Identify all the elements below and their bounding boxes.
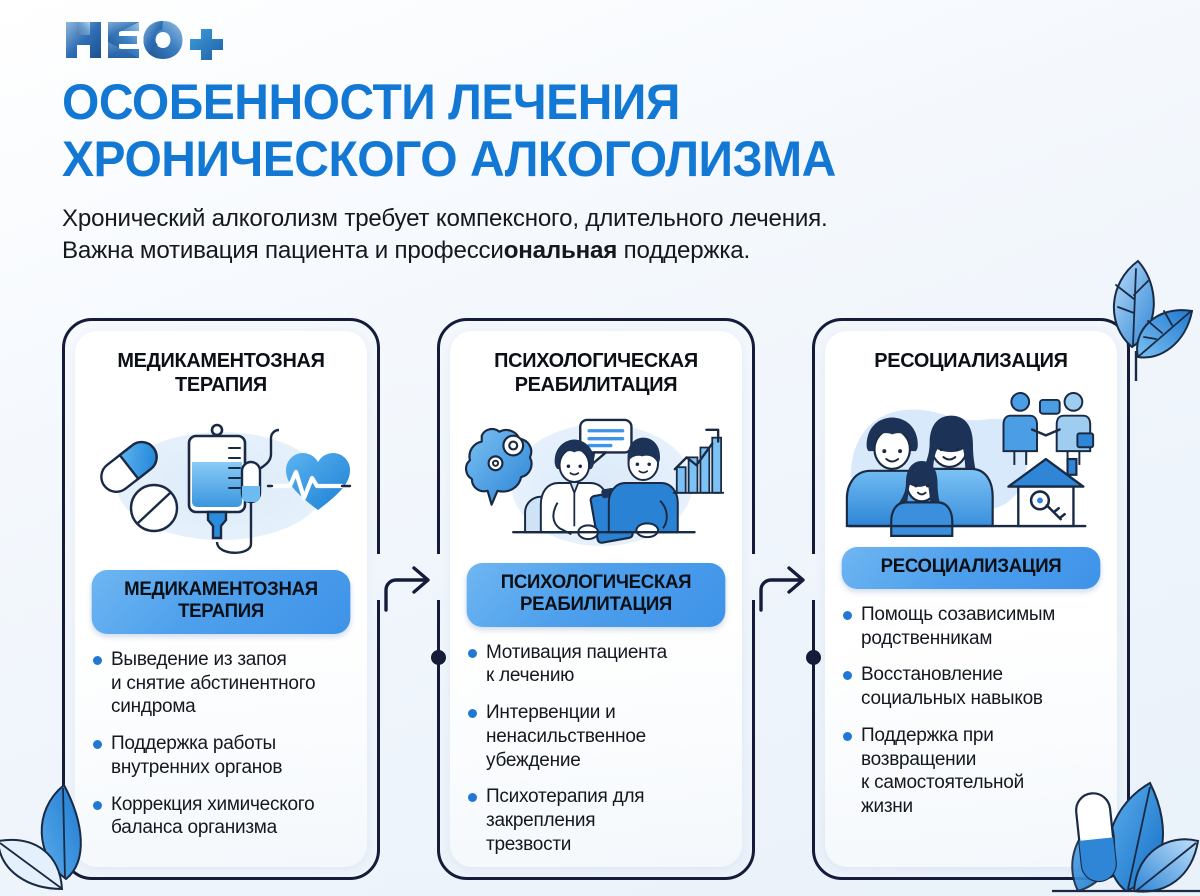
- list-item: Мотивация пациента к лечению: [466, 641, 728, 689]
- subtitle-prefix: Важна мотивация пациента и професси: [62, 237, 504, 264]
- arrow-card2-to-card3: [757, 554, 817, 614]
- list-item: Восстановление социальных навыков: [841, 663, 1103, 711]
- card-psychological-rehabilitation[interactable]: ПСИХОЛОГИЧЕСКАЯ РЕАБИЛИТАЦИЯ: [437, 318, 755, 880]
- list-item: Выведение из запоя и снятие абстинентног…: [91, 648, 353, 719]
- subtitle-suffix: поддержка.: [617, 237, 750, 264]
- list-item: Коррекция химического баланса организма: [91, 793, 353, 841]
- page-title: ОСОБЕННОСТИ ЛЕЧЕНИЯ ХРОНИЧЕСКОГО АЛКОГОЛ…: [62, 74, 1108, 187]
- arrow-card1-to-card2: [382, 554, 442, 614]
- card-body: РЕСОЦИАЛИЗАЦИЯ: [825, 331, 1117, 867]
- connector-node-dot: [431, 650, 446, 665]
- card-heading: ПСИХОЛОГИЧЕСКАЯ РЕАБИЛИТАЦИЯ: [468, 349, 724, 397]
- card-bullet-list: Помощь созависимым родственникам Восстан…: [839, 603, 1103, 832]
- card-heading: МЕДИКАМЕНТОЗНАЯ ТЕРАПИЯ: [93, 349, 349, 397]
- family-handshake-house-key-icon: [839, 381, 1103, 541]
- connector-node-dot: [806, 650, 821, 665]
- subtitle-line-1: Хронический алкоголизм требует компексно…: [62, 203, 1136, 235]
- subtitle-bold: ональная: [504, 237, 617, 264]
- card-medication-therapy[interactable]: МЕДИКАМЕНТОЗНАЯ ТЕРАПИЯ: [62, 318, 380, 880]
- list-item: Поддержка при возвращении к самостоятель…: [841, 724, 1103, 819]
- card-body: ПСИХОЛОГИЧЕСКАЯ РЕАБИЛИТАЦИЯ: [450, 331, 742, 867]
- subtitle-line-2: Важна мотивация пациента и профессиональ…: [62, 235, 1136, 267]
- page-header: ОСОБЕННОСТИ ЛЕЧЕНИЯ ХРОНИЧЕСКОГО АЛКОГОЛ…: [62, 74, 1152, 268]
- card-resocialization[interactable]: РЕСОЦИАЛИЗАЦИЯ: [812, 318, 1130, 880]
- card-badge[interactable]: МЕДИКАМЕНТОЗНАЯ ТЕРАПИЯ: [92, 570, 351, 633]
- list-item: Интервенции и ненасильственное убеждение: [466, 701, 728, 772]
- list-item: Психотерапия для закрепления трезвости: [466, 785, 728, 856]
- list-item: Поддержка работы внутренних органов: [91, 732, 353, 780]
- card-badge[interactable]: РЕСОЦИАЛИЗАЦИЯ: [842, 547, 1101, 589]
- page-subtitle: Хронический алкоголизм требует компексно…: [62, 203, 1136, 268]
- pills-iv-drip-heart-icon: [89, 405, 353, 564]
- card-bullet-list: Мотивация пациента к лечению Интервенции…: [464, 641, 728, 867]
- cards-row: МЕДИКАМЕНТОЗНАЯ ТЕРАПИЯ: [0, 318, 1200, 888]
- list-item: Помощь созависимым родственникам: [841, 603, 1103, 651]
- card-badge[interactable]: ПСИХОЛОГИЧЕСКАЯ РЕАБИЛИТАЦИЯ: [467, 563, 726, 626]
- brain-therapist-patient-chart-icon: [464, 405, 728, 557]
- card-bullet-list: Выведение из запоя и снятие абстинентног…: [89, 648, 353, 853]
- brand-logo: [62, 16, 237, 64]
- card-heading: РЕСОЦИАЛИЗАЦИЯ: [843, 349, 1099, 373]
- card-body: МЕДИКАМЕНТОЗНАЯ ТЕРАПИЯ: [75, 331, 367, 867]
